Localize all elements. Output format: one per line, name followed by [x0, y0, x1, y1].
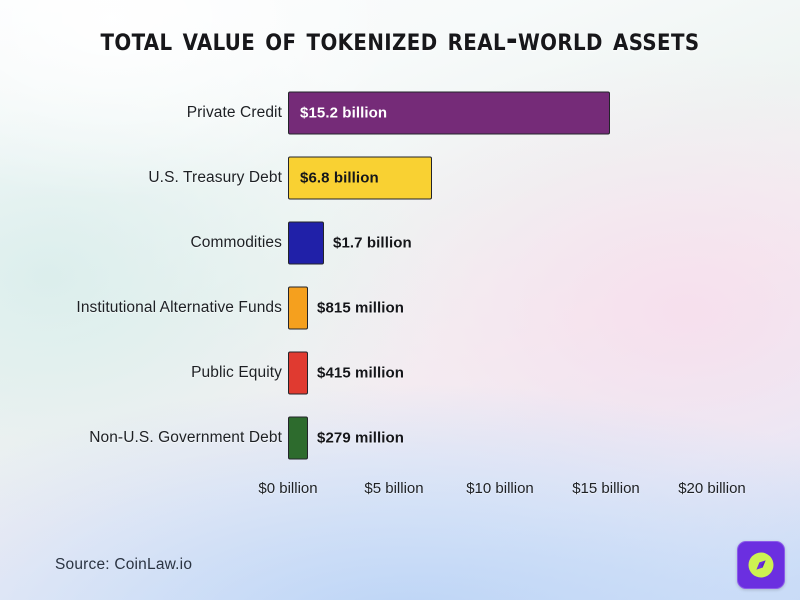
x-axis-tick-label: $20 billion [678, 480, 746, 497]
x-axis-tick-label: $15 billion [572, 480, 640, 497]
bar-value-label: $6.8 billion [289, 170, 379, 187]
infographic-canvas: Total Value of Tokenized Real-World Asse… [0, 0, 800, 600]
x-axis: $0 billion$5 billion$10 billion$15 billi… [0, 480, 800, 506]
bar-public-equity[interactable] [288, 352, 308, 395]
bar-value-label: $815 million [317, 300, 404, 317]
bar-row: Non-U.S. Government Debt$279 million [0, 417, 800, 459]
bar-value-label: $279 million [317, 430, 404, 447]
x-axis-tick-label: $0 billion [258, 480, 317, 497]
bar-private-credit[interactable]: $15.2 billion [288, 92, 610, 135]
bar-value-label: $15.2 billion [289, 105, 387, 122]
source-credit: Source: CoinLaw.io [55, 556, 192, 574]
bar-commodities[interactable] [288, 222, 324, 265]
bar-category-label: Non-U.S. Government Debt [89, 429, 282, 447]
bar-row: Public Equity$415 million [0, 352, 800, 394]
bar-category-label: U.S. Treasury Debt [148, 169, 282, 187]
x-axis-tick-label: $5 billion [364, 480, 423, 497]
chart-title: Total Value of Tokenized Real-World Asse… [0, 22, 800, 58]
bar-value-label: $415 million [317, 365, 404, 382]
bar-institutional-alternative-funds[interactable] [288, 287, 308, 330]
bar-row: U.S. Treasury Debt$6.8 billion [0, 157, 800, 199]
bar-row: Institutional Alternative Funds$815 mill… [0, 287, 800, 329]
bar-category-label: Private Credit [187, 104, 282, 122]
bar-category-label: Institutional Alternative Funds [76, 299, 282, 317]
bar-non-u-s-government-debt[interactable] [288, 417, 308, 460]
bar-category-label: Commodities [190, 234, 282, 252]
bar-value-label: $1.7 billion [333, 235, 412, 252]
coinlaw-compass-logo [737, 541, 785, 589]
bar-category-label: Public Equity [191, 364, 282, 382]
x-axis-tick-label: $10 billion [466, 480, 534, 497]
bar-chart-plot-area: Private Credit$15.2 billionU.S. Treasury… [0, 92, 800, 482]
bar-u-s-treasury-debt[interactable]: $6.8 billion [288, 157, 432, 200]
bar-row: Private Credit$15.2 billion [0, 92, 800, 134]
bar-row: Commodities$1.7 billion [0, 222, 800, 264]
compass-icon [745, 549, 777, 581]
